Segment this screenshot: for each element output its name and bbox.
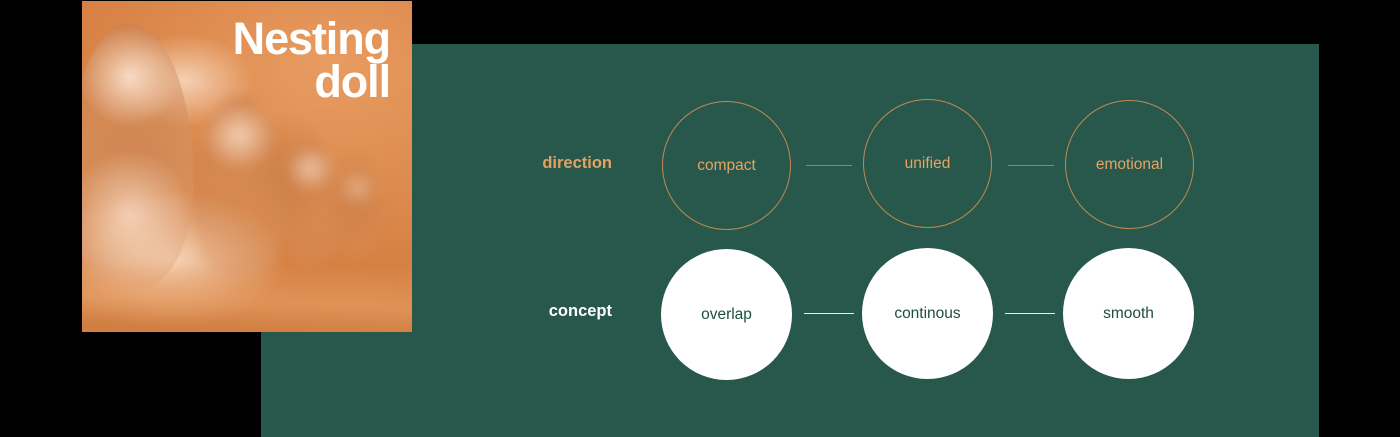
connector-concept-2-3 (1005, 313, 1055, 314)
connector-direction-1-2 (806, 165, 852, 166)
node-concept-1[interactable]: overlap (661, 249, 792, 380)
node-direction-2[interactable]: unified (863, 99, 992, 228)
node-concept-3[interactable]: smooth (1063, 248, 1194, 379)
node-direction-3[interactable]: emotional (1065, 100, 1194, 229)
card-title: Nesting doll (120, 17, 390, 103)
row-label-direction: direction (412, 154, 612, 173)
green-panel (261, 44, 1319, 437)
node-direction-1[interactable]: compact (662, 101, 791, 230)
connector-direction-2-3 (1008, 165, 1054, 166)
row-label-concept: concept (412, 302, 612, 321)
connector-concept-1-2 (804, 313, 854, 314)
slide-canvas: Nesting doll direction concept compact u… (0, 0, 1400, 437)
node-concept-2[interactable]: continous (862, 248, 993, 379)
photo-card: Nesting doll (82, 1, 412, 332)
